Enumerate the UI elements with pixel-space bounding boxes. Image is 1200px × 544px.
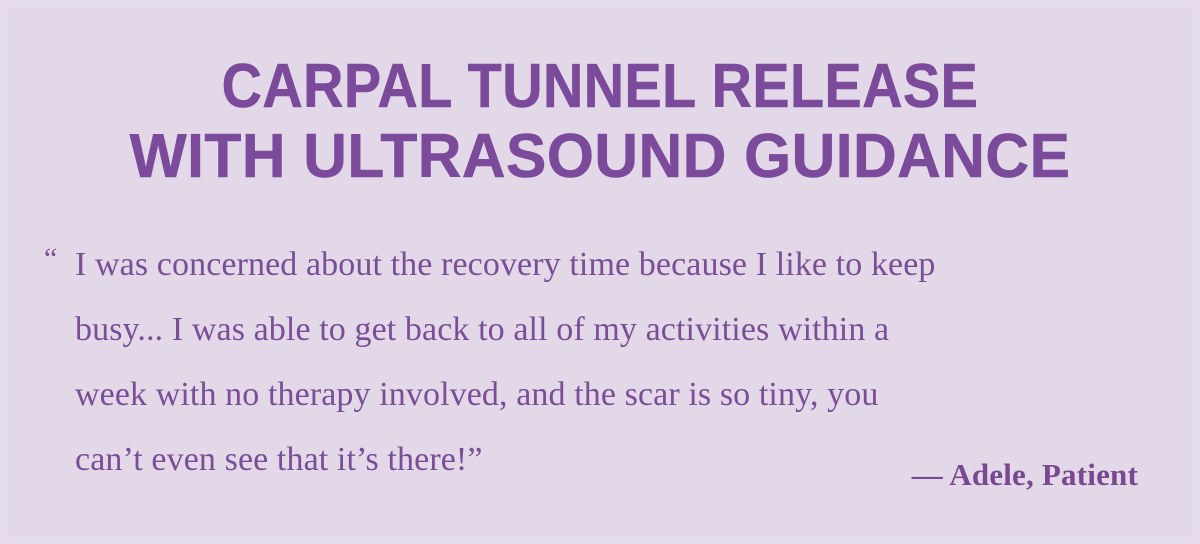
- quote-line-3: week with no therapy involved, and the s…: [44, 362, 1154, 427]
- testimonial-poster: Carpal Tunnel Release with Ultrasound Gu…: [0, 0, 1200, 544]
- quote-line-1-text: I was concerned about the recovery time …: [75, 232, 936, 297]
- quote-line-2: busy... I was able to get back to all of…: [44, 297, 1154, 362]
- patient-quote: “ I was concerned about the recovery tim…: [44, 232, 1154, 492]
- quote-attribution: — Adele, Patient: [912, 455, 1138, 495]
- page-title-line-1: Carpal Tunnel Release: [60, 52, 1140, 122]
- page-title-line-2: with Ultrasound Guidance: [15, 122, 1185, 192]
- quote-line-1: “ I was concerned about the recovery tim…: [44, 232, 1154, 297]
- open-quote-mark: “: [44, 226, 57, 291]
- page-title: Carpal Tunnel Release with Ultrasound Gu…: [0, 52, 1200, 192]
